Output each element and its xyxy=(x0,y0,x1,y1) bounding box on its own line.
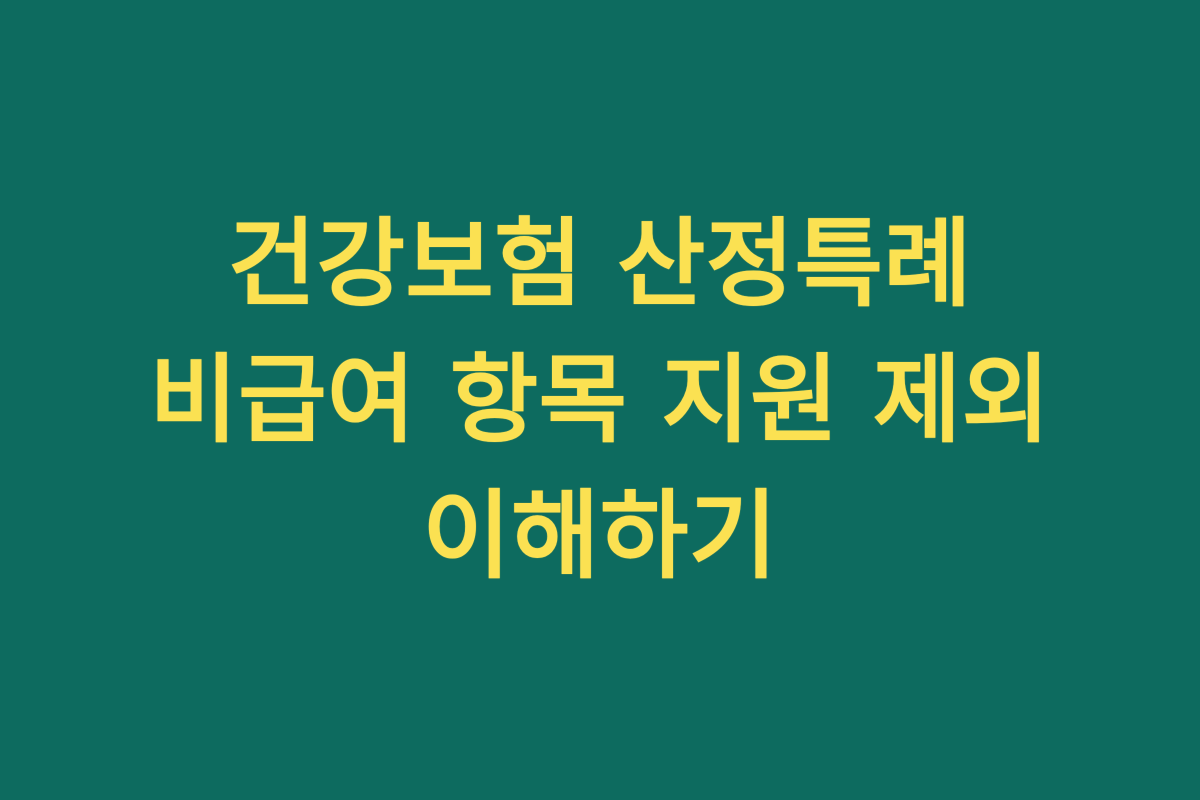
title-card-banner: 건강보험 산정특례 비급여 항목 지원 제외 이해하기 xyxy=(0,0,1200,800)
page-title: 건강보험 산정특례 비급여 항목 지원 제외 이해하기 xyxy=(100,196,1100,605)
